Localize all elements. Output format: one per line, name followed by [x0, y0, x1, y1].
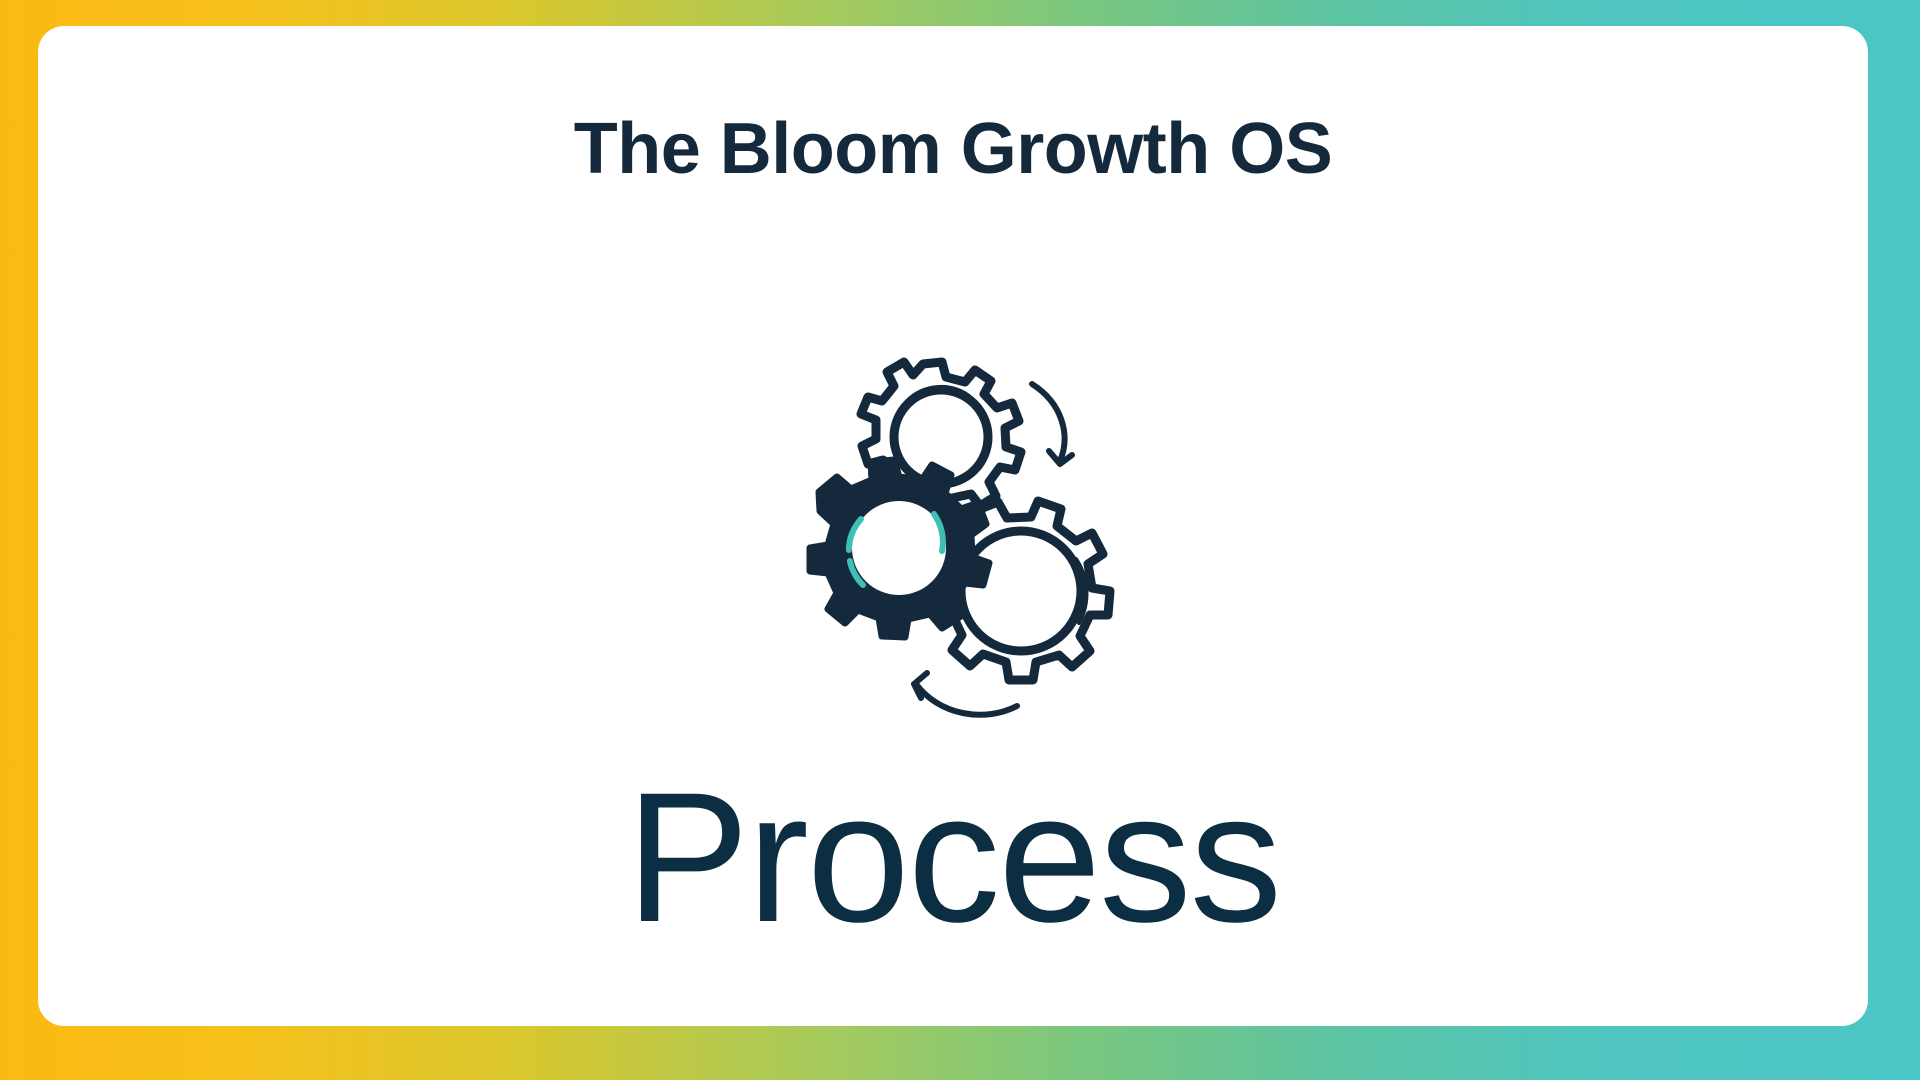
- page-title: The Bloom Growth OS: [38, 112, 1868, 188]
- gears-process-icon: [779, 351, 1139, 731]
- slide-card: The Bloom Growth OS: [38, 26, 1868, 1026]
- main-heading: Process: [38, 766, 1868, 951]
- gears-process-icon-svg: [779, 351, 1139, 731]
- slide-frame: The Bloom Growth OS: [0, 0, 1920, 1080]
